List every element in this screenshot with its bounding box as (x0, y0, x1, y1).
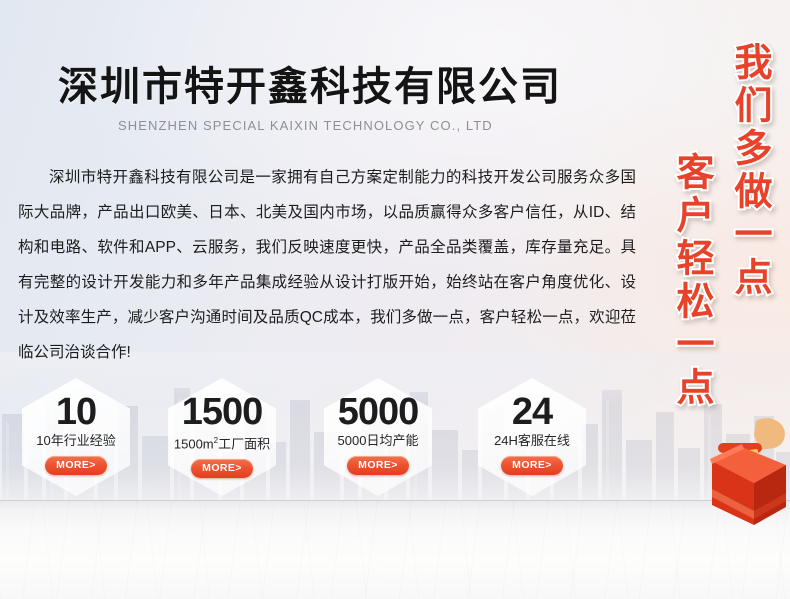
slogan-customer-relaxed: 客户轻松一点 (666, 152, 716, 410)
stat-label-main: 5000日均产能 (338, 433, 419, 448)
stat-label: 1500m2工厂面积 (168, 433, 276, 452)
stat-label-main: 1500m (174, 436, 214, 451)
more-button[interactable]: MORE> (501, 456, 563, 475)
horizon-line (0, 500, 790, 501)
slogan-we-do-more: 我们多做一点 (724, 42, 774, 300)
page-title: 深圳市特开鑫科技有限公司 (58, 54, 562, 112)
company-intro-paragraph: 深圳市特开鑫科技有限公司是一家拥有自己方案定制能力的科技开发公司服务众多国际大品… (18, 160, 636, 370)
stat-label-main: 24H客服在线 (494, 433, 570, 448)
stat-label: 10年行业经验 (22, 433, 130, 449)
stat-number: 24 (478, 392, 586, 432)
stat-card-support[interactable]: 24 24H客服在线 MORE> (478, 378, 586, 496)
stat-label-tail: 工厂面积 (218, 436, 270, 451)
stat-card-daily-capacity[interactable]: 5000 5000日均产能 MORE> (324, 378, 432, 496)
stat-card-experience[interactable]: 10 10年行业经验 MORE> (22, 378, 130, 496)
stat-number: 5000 (324, 392, 432, 432)
stat-number: 10 (22, 392, 130, 432)
stat-label: 5000日均产能 (324, 433, 432, 449)
stat-card-factory-area[interactable]: 1500 1500m2工厂面积 MORE> (168, 378, 276, 496)
stat-label: 24H客服在线 (478, 433, 586, 449)
stat-label-main: 10年行业经验 (36, 433, 115, 448)
company-banner: 深圳市特开鑫科技有限公司 SHENZHEN SPECIAL KAIXIN TEC… (0, 0, 790, 599)
company-subtitle-english: SHENZHEN SPECIAL KAIXIN TECHNOLOGY CO., … (118, 118, 493, 133)
stats-hexagon-group: 10 10年行业经验 MORE> 1500 1500m2工厂面积 MORE> 5… (22, 378, 622, 496)
more-button[interactable]: MORE> (347, 456, 409, 475)
ground-surface (0, 500, 790, 599)
more-button[interactable]: MORE> (45, 456, 107, 475)
more-button[interactable]: MORE> (191, 459, 253, 478)
red-toolbox-illustration (694, 413, 790, 533)
stat-number: 1500 (168, 392, 276, 432)
